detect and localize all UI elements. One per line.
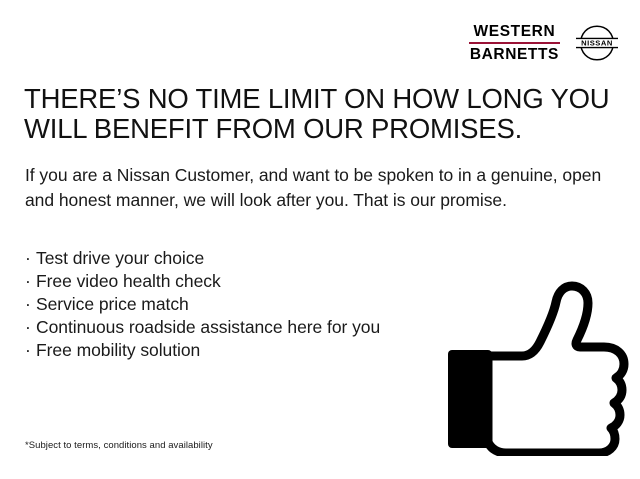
brand-logo-block: WESTERN BARNETTS NISSAN (469, 22, 622, 64)
list-item-label: Service price match (36, 294, 189, 314)
dealer-name-line-1: WESTERN (469, 24, 560, 40)
thumbs-up-icon (444, 276, 630, 456)
list-item: ·Free mobility solution (25, 339, 465, 362)
dealer-wordmark: WESTERN BARNETTS (469, 24, 560, 62)
list-item-label: Free mobility solution (36, 340, 200, 360)
list-item-label: Continuous roadside assistance here for … (36, 317, 380, 337)
bullet-icon: · (25, 316, 36, 339)
list-item: ·Continuous roadside assistance here for… (25, 316, 465, 339)
promise-list: ·Test drive your choice ·Free video heal… (25, 247, 465, 362)
svg-text:NISSAN: NISSAN (581, 38, 613, 47)
bullet-icon: · (25, 339, 36, 362)
intro-paragraph: If you are a Nissan Customer, and want t… (25, 163, 603, 213)
bullet-icon: · (25, 293, 36, 316)
list-item: ·Free video health check (25, 270, 465, 293)
list-item-label: Free video health check (36, 271, 221, 291)
promise-page: WESTERN BARNETTS NISSAN THERE’S NO TIME … (0, 0, 640, 479)
list-item: ·Test drive your choice (25, 247, 465, 270)
bullet-icon: · (25, 270, 36, 293)
disclaimer-text: *Subject to terms, conditions and availa… (25, 440, 213, 452)
list-item: ·Service price match (25, 293, 465, 316)
page-title: THERE’S NO TIME LIMIT ON HOW LONG YOU WI… (24, 84, 624, 144)
list-item-label: Test drive your choice (36, 248, 204, 268)
bullet-icon: · (25, 247, 36, 270)
dealer-name-divider (469, 42, 560, 44)
nissan-logo-icon: NISSAN (572, 22, 622, 64)
dealer-name-line-2: BARNETTS (469, 47, 560, 63)
